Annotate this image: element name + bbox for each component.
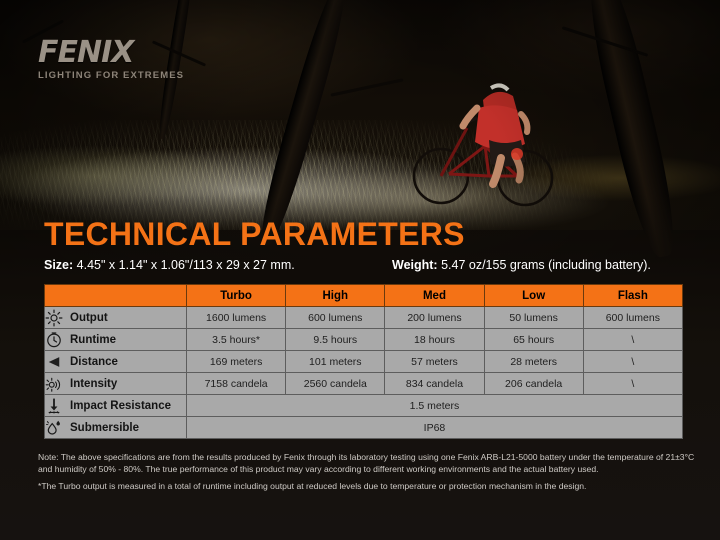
row-label-text: Submersible: [70, 422, 139, 434]
cell-output-med: 200 lumens: [385, 307, 484, 329]
beam-distance-icon: [45, 353, 63, 371]
cell-runtime-flash: \: [583, 329, 682, 351]
table-row: Runtime 3.5 hours* 9.5 hours 18 hours 65…: [45, 329, 683, 351]
size-label: Size:: [44, 258, 73, 272]
row-label-intensity: Intensity: [45, 373, 187, 395]
column-header-med: Med: [385, 285, 484, 307]
cell-intensity-turbo: 7158 candela: [187, 373, 286, 395]
impact-arrow-icon: [45, 397, 63, 415]
product-spec-page: FENIX LIGHTING FOR EXTREMES TECHNICAL PA…: [0, 0, 720, 540]
table-row: Output 1600 lumens 600 lumens 200 lumens…: [45, 307, 683, 329]
cell-submersible-value: IP68: [187, 417, 683, 439]
cell-intensity-med: 834 candela: [385, 373, 484, 395]
footnote-block: Note: The above specifications are from …: [38, 452, 698, 493]
cell-distance-high: 101 meters: [286, 351, 385, 373]
cell-distance-turbo: 169 meters: [187, 351, 286, 373]
row-label-text: Runtime: [70, 334, 116, 346]
weight-label: Weight:: [392, 258, 438, 272]
column-header-turbo: Turbo: [187, 285, 286, 307]
water-drop-icon: [45, 419, 63, 437]
row-label-text: Output: [70, 312, 108, 324]
weight-value: 5.47 oz/155 grams (including battery).: [438, 258, 651, 272]
size-spec: Size: 4.45" x 1.14" x 1.06"/113 x 29 x 2…: [44, 256, 295, 274]
cell-output-flash: 600 lumens: [583, 307, 682, 329]
column-header-high: High: [286, 285, 385, 307]
cell-runtime-med: 18 hours: [385, 329, 484, 351]
cell-impact-resistance-value: 1.5 meters: [187, 395, 683, 417]
weight-spec: Weight: 5.47 oz/155 grams (including bat…: [392, 256, 651, 274]
fenix-logo: FENIX LIGHTING FOR EXTREMES: [38, 38, 208, 81]
row-label-text: Intensity: [70, 378, 117, 390]
cell-distance-low: 28 meters: [484, 351, 583, 373]
clock-icon: [45, 331, 63, 349]
column-header-flash: Flash: [583, 285, 682, 307]
cell-distance-med: 57 meters: [385, 351, 484, 373]
table-row: Impact Resistance 1.5 meters: [45, 395, 683, 417]
cell-runtime-low: 65 hours: [484, 329, 583, 351]
light-intensity-icon: [45, 375, 63, 393]
cell-runtime-high: 9.5 hours: [286, 329, 385, 351]
row-label-text: Distance: [70, 356, 118, 368]
column-header-low: Low: [484, 285, 583, 307]
row-label-text: Impact Resistance: [70, 400, 171, 412]
row-label-output: Output: [45, 307, 187, 329]
cell-output-low: 50 lumens: [484, 307, 583, 329]
cell-intensity-low: 206 candela: [484, 373, 583, 395]
footnote-note: Note: The above specifications are from …: [38, 452, 698, 475]
technical-parameters-table: Turbo High Med Low Flash: [44, 284, 683, 439]
cell-distance-flash: \: [583, 351, 682, 373]
cell-intensity-high: 2560 candela: [286, 373, 385, 395]
size-weight-line: Size: 4.45" x 1.14" x 1.06"/113 x 29 x 2…: [44, 256, 682, 274]
table-header-row: Turbo High Med Low Flash: [45, 285, 683, 307]
row-label-distance: Distance: [45, 351, 187, 373]
cell-intensity-flash: \: [583, 373, 682, 395]
table-row: Distance 169 meters 101 meters 57 meters…: [45, 351, 683, 373]
footnote-asterisk: *The Turbo output is measured in a total…: [38, 481, 698, 493]
logo-tagline: LIGHTING FOR EXTREMES: [38, 70, 208, 81]
size-value: 4.45" x 1.14" x 1.06"/113 x 29 x 27 mm.: [73, 258, 295, 272]
cell-runtime-turbo: 3.5 hours*: [187, 329, 286, 351]
cell-output-high: 600 lumens: [286, 307, 385, 329]
row-label-submersible: Submersible: [45, 417, 187, 439]
table-corner-cell: [45, 285, 187, 307]
table-row: Intensity 7158 candela 2560 candela 834 …: [45, 373, 683, 395]
page-title: TECHNICAL PARAMETERS: [44, 218, 465, 250]
row-label-impact-resistance: Impact Resistance: [45, 395, 187, 417]
row-label-runtime: Runtime: [45, 329, 187, 351]
table-row: Submersible IP68: [45, 417, 683, 439]
sun-burst-icon: [45, 309, 63, 327]
cell-output-turbo: 1600 lumens: [187, 307, 286, 329]
logo-wordmark: FENIX: [38, 38, 208, 68]
